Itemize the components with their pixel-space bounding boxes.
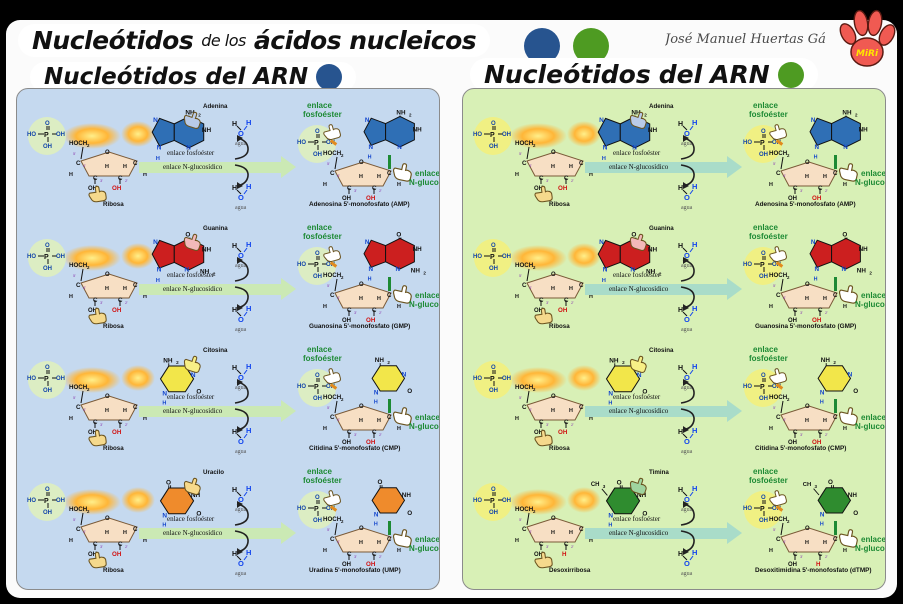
svg-text:HO: HO [743, 262, 752, 268]
svg-text:H: H [232, 487, 237, 494]
svg-text:H: H [377, 418, 381, 424]
svg-text:H: H [123, 286, 127, 292]
water-curved-arrow-bottom [233, 529, 257, 555]
arrow-head [281, 522, 296, 544]
svg-text:OH: OH [43, 266, 52, 272]
left-title-part3: ARN [253, 64, 308, 90]
svg-text:H: H [823, 540, 827, 546]
svg-text:H: H [246, 484, 251, 493]
reaction-row: HO P OH O OH O HOCH 2 5' C 4' C 1' C 3' … [17, 219, 439, 341]
phosphoester-pointer-hand [319, 483, 346, 510]
svg-text:OH: OH [489, 266, 498, 272]
svg-text:NH: NH [402, 492, 412, 499]
svg-text:agua: agua [235, 449, 247, 455]
svg-text:N: N [603, 145, 608, 152]
svg-text:HOCH: HOCH [515, 140, 534, 147]
svg-text:N: N [603, 267, 608, 274]
svg-text:H: H [805, 296, 809, 302]
svg-text:C: C [522, 282, 527, 289]
svg-text:2: 2 [87, 265, 90, 270]
svg-text:agua: agua [235, 571, 247, 577]
svg-text:4': 4' [83, 529, 86, 534]
svg-text:HO: HO [297, 140, 306, 146]
product-bond-phosphoester-l1: enlace [307, 101, 332, 110]
svg-text:HOCH: HOCH [69, 262, 88, 269]
svg-text:4': 4' [783, 173, 786, 178]
product-bond-glycosidic-l2: N-glucosídico [855, 178, 886, 187]
svg-text:2': 2' [571, 544, 574, 549]
svg-text:O: O [853, 510, 858, 517]
svg-text:H: H [69, 294, 73, 300]
product-name-label: Desoxitimidina 5'-monofosfato (dTMP) [755, 567, 872, 574]
svg-text:C: C [76, 282, 81, 289]
bond-label-phosphoester: enlace fosfoéster [167, 149, 214, 157]
svg-text:3: 3 [815, 484, 818, 489]
svg-text:H: H [551, 286, 555, 292]
svg-text:N: N [815, 266, 820, 273]
bond-label-nglycosidic: enlace N-glucosídico [609, 529, 668, 537]
arrow-head [727, 400, 742, 422]
svg-text:C: C [330, 170, 335, 177]
water-curved-arrow-bottom [679, 529, 703, 555]
svg-text:OH: OH [558, 307, 568, 314]
svg-text:C: C [579, 160, 584, 167]
main-title-part1: Nucleótidos [32, 26, 193, 55]
right-title-dot [778, 62, 804, 88]
svg-text:H: H [678, 243, 683, 250]
water-curved-arrow-top [233, 257, 257, 283]
pointing-hand-icon [765, 361, 792, 388]
svg-text:CH: CH [803, 482, 811, 488]
svg-text:O: O [491, 365, 496, 371]
svg-text:HO: HO [27, 498, 36, 504]
svg-text:agua: agua [235, 205, 247, 211]
product-bond-glycosidic-l2: N-glucosídico [409, 544, 440, 553]
svg-text:2: 2 [87, 509, 90, 514]
water-curved-arrow-top [233, 501, 257, 527]
water-curved-arrow-bottom [233, 285, 257, 311]
svg-text:NH: NH [821, 357, 831, 364]
left-title-part1: Nucleótidos [44, 64, 197, 90]
svg-text:HOCH: HOCH [769, 516, 788, 523]
svg-text:5': 5' [519, 151, 522, 156]
svg-text:3': 3' [354, 188, 357, 193]
sugar-name-label: Ribosa [103, 445, 124, 452]
svg-text:NH: NH [411, 268, 421, 275]
svg-text:OH: OH [558, 185, 568, 192]
product-name-label: Adenosina 5'-monofosfato (AMP) [309, 201, 410, 208]
svg-text:4': 4' [83, 163, 86, 168]
svg-text:HO: HO [27, 376, 36, 382]
svg-text:H: H [105, 164, 109, 170]
svg-text:H: H [769, 426, 773, 432]
svg-text:C: C [133, 526, 138, 533]
svg-text:H: H [823, 418, 827, 424]
svg-text:H: H [551, 408, 555, 414]
product-bond-glycosidic-l1: enlace [415, 535, 440, 544]
svg-text:H: H [515, 294, 519, 300]
svg-text:N: N [374, 390, 379, 397]
panel-rna: HO P OH O OH O HOCH 2 5' C 4' C 1' C 3' … [16, 88, 440, 590]
svg-text:HOCH: HOCH [515, 262, 534, 269]
svg-text:N: N [153, 117, 158, 124]
svg-text:H: H [843, 426, 847, 432]
svg-text:O: O [491, 487, 496, 493]
svg-text:OH: OH [43, 510, 52, 516]
svg-text:2': 2' [125, 422, 128, 427]
svg-text:OH: OH [112, 551, 122, 558]
svg-text:NH: NH [163, 357, 173, 364]
arrow-head [727, 522, 742, 544]
curved-arrow-icon [679, 285, 703, 311]
svg-text:2': 2' [379, 554, 382, 559]
svg-text:CH: CH [591, 482, 600, 488]
bond-label-nglycosidic: enlace N-glucosídico [163, 285, 222, 293]
svg-text:NH: NH [375, 357, 385, 364]
svg-text:H: H [805, 540, 809, 546]
svg-text:N: N [157, 267, 162, 274]
svg-text:H: H [232, 243, 237, 250]
svg-text:5': 5' [73, 517, 76, 522]
product-bond-glycosidic-l2: N-glucosídico [855, 544, 886, 553]
svg-text:O: O [45, 243, 50, 249]
svg-text:2': 2' [825, 310, 828, 315]
svg-text:OH: OH [112, 185, 122, 192]
svg-text:O: O [551, 272, 556, 278]
svg-text:N: N [397, 144, 402, 151]
product-name-label: Citidina 5'-monofosfato (CMP) [309, 445, 400, 452]
svg-text:O: O [684, 315, 690, 324]
svg-text:H: H [105, 408, 109, 414]
svg-text:H: H [377, 296, 381, 302]
sugar-name-label: Ribosa [549, 445, 570, 452]
svg-text:2': 2' [825, 188, 828, 193]
base-name-label: Uracilo [203, 469, 224, 476]
curved-arrow-icon [233, 407, 257, 433]
svg-text:2: 2 [833, 360, 836, 365]
water-curved-arrow-bottom [233, 407, 257, 433]
svg-text:C: C [579, 404, 584, 411]
product-bond-glycosidic-l1: enlace [861, 291, 886, 300]
svg-text:3': 3' [800, 554, 803, 559]
svg-text:N: N [842, 266, 847, 273]
bond-label-nglycosidic: enlace N-glucosídico [163, 163, 222, 171]
bond-label-phosphoester: enlace fosfoéster [167, 515, 214, 523]
svg-text:O: O [853, 388, 858, 395]
svg-text:H: H [323, 548, 327, 554]
svg-text:H: H [805, 418, 809, 424]
svg-text:HOCH: HOCH [769, 272, 788, 279]
reaction-row: HO P OH O OH O HOCH 2 5' C 4' C 1' C 3' … [463, 463, 885, 585]
svg-text:2: 2 [341, 153, 344, 158]
water-curved-arrow-top [679, 257, 703, 283]
svg-text:5': 5' [73, 395, 76, 400]
curved-arrow-icon [679, 135, 703, 161]
svg-text:H: H [374, 522, 378, 528]
svg-text:5': 5' [773, 283, 776, 288]
product-bond-phosphoester-l1: enlace [753, 345, 778, 354]
svg-text:4': 4' [529, 407, 532, 412]
svg-text:HOCH: HOCH [769, 394, 788, 401]
svg-text:5': 5' [73, 151, 76, 156]
svg-text:NH: NH [859, 127, 869, 134]
svg-text:N: N [369, 144, 374, 151]
panel-dna: HO P OH O OH O HOCH 2 5' C 4' C 1' C 3' … [462, 88, 886, 590]
svg-text:N: N [599, 117, 604, 124]
curved-arrow-icon [233, 135, 257, 161]
svg-text:H: H [246, 362, 251, 371]
svg-text:O: O [45, 365, 50, 371]
product-name-label: Citidina 5'-monofosfato (CMP) [755, 445, 846, 452]
svg-text:O: O [551, 516, 556, 522]
svg-text:3': 3' [354, 554, 357, 559]
svg-text:N: N [153, 239, 158, 246]
svg-text:H: H [69, 416, 73, 422]
svg-text:N: N [820, 390, 825, 397]
svg-text:2': 2' [379, 310, 382, 315]
svg-text:2: 2 [533, 265, 536, 270]
pointing-hand-icon [319, 239, 346, 266]
base-name-label: Citosina [203, 347, 227, 354]
svg-text:O: O [238, 559, 244, 568]
svg-text:O: O [684, 437, 690, 446]
svg-text:C: C [76, 404, 81, 411]
curved-arrow-icon [679, 407, 703, 433]
svg-text:O: O [238, 437, 244, 446]
product-name-label: Guanosina 5'-monofosfato (GMP) [755, 323, 856, 330]
svg-text:HOCH: HOCH [515, 506, 534, 513]
svg-text:2: 2 [87, 387, 90, 392]
svg-text:N: N [811, 117, 816, 124]
svg-text:O: O [45, 487, 50, 493]
svg-text:H: H [678, 121, 683, 128]
svg-text:agua: agua [681, 205, 693, 211]
product-name-label: Uradina 5'-monofosfato (UMP) [309, 567, 401, 574]
arrow-head [727, 278, 742, 300]
svg-text:H: H [823, 296, 827, 302]
svg-text:4': 4' [783, 417, 786, 422]
svg-text:O: O [761, 373, 766, 379]
bond-label-phosphoester: enlace fosfoéster [167, 271, 214, 279]
curved-arrow-icon [679, 501, 703, 527]
svg-text:HOCH: HOCH [323, 516, 342, 523]
svg-text:5': 5' [73, 273, 76, 278]
svg-text:H: H [820, 522, 824, 528]
product-name-label: Guanosina 5'-monofosfato (GMP) [309, 323, 410, 330]
phosphoester-pointer-hand [319, 361, 346, 388]
svg-text:5': 5' [327, 527, 330, 532]
svg-text:OH: OH [489, 510, 498, 516]
product-bond-glycosidic-l1: enlace [415, 291, 440, 300]
svg-text:NH: NH [857, 268, 867, 275]
svg-text:2: 2 [787, 153, 790, 158]
svg-text:4': 4' [783, 539, 786, 544]
svg-text:4': 4' [783, 295, 786, 300]
svg-text:N: N [157, 145, 162, 152]
base-name-label: Guanina [203, 225, 228, 232]
svg-text:3': 3' [800, 188, 803, 193]
diagram-canvas: Nucleótidos de los ácidos nucleicos Nucl… [0, 0, 903, 604]
svg-text:2: 2 [533, 509, 536, 514]
svg-text:O: O [491, 243, 496, 249]
svg-text:HO: HO [473, 498, 482, 504]
svg-text:4': 4' [529, 529, 532, 534]
svg-text:OH: OH [489, 388, 498, 394]
svg-text:N: N [815, 144, 820, 151]
phosphoester-pointer-hand [765, 361, 792, 388]
svg-text:HO: HO [297, 262, 306, 268]
svg-text:2': 2' [125, 178, 128, 183]
svg-text:H: H [123, 408, 127, 414]
svg-text:H: H [515, 172, 519, 178]
svg-text:H: H [368, 277, 372, 283]
svg-text:2': 2' [825, 554, 828, 559]
svg-text:HOCH: HOCH [515, 384, 534, 391]
svg-text:H: H [515, 538, 519, 544]
svg-text:H: H [232, 121, 237, 128]
svg-text:HO: HO [743, 384, 752, 390]
svg-text:3: 3 [603, 484, 606, 489]
svg-text:HO: HO [473, 254, 482, 260]
phosphoester-pointer-hand [765, 483, 792, 510]
svg-text:HO: HO [27, 132, 36, 138]
svg-text:H: H [678, 365, 683, 372]
bond-label-phosphoester: enlace fosfoéster [613, 271, 660, 279]
svg-text:4': 4' [83, 407, 86, 412]
svg-text:HOCH: HOCH [323, 272, 342, 279]
base-name-label: Timina [649, 469, 669, 476]
svg-text:H: H [551, 530, 555, 536]
svg-text:NH: NH [848, 492, 858, 499]
product-bond-glycosidic-l1: enlace [861, 169, 886, 178]
svg-text:2: 2 [855, 112, 858, 117]
svg-text:2': 2' [825, 432, 828, 437]
svg-text:HO: HO [743, 140, 752, 146]
svg-text:HO: HO [27, 254, 36, 260]
svg-text:HOCH: HOCH [69, 140, 88, 147]
svg-text:H: H [374, 400, 378, 406]
svg-text:O: O [238, 315, 244, 324]
reaction-row: HO P OH O OH O HOCH 2 5' C 4' C 1' C 3' … [17, 97, 439, 219]
svg-text:C: C [522, 160, 527, 167]
arrow-head [281, 156, 296, 178]
reaction-row: HO P OH O OH O HOCH 2 5' C 4' C 1' C 3' … [463, 341, 885, 463]
svg-text:C: C [579, 282, 584, 289]
svg-text:H: H [769, 304, 773, 310]
pointing-hand-icon [765, 239, 792, 266]
phosphoester-pointer-hand [319, 117, 346, 144]
svg-text:N: N [843, 144, 848, 151]
curved-arrow-icon [233, 529, 257, 555]
svg-text:N: N [820, 512, 825, 519]
svg-text:O: O [105, 272, 110, 278]
svg-text:5': 5' [519, 395, 522, 400]
svg-text:NH: NH [396, 110, 406, 117]
curved-arrow-icon [679, 163, 703, 189]
main-title: Nucleótidos de los ácidos nucleicos [18, 24, 490, 57]
curved-arrow-icon [233, 379, 257, 405]
water-curved-arrow-bottom [679, 407, 703, 433]
svg-text:O: O [315, 495, 320, 501]
phosphoester-pointer-hand [765, 117, 792, 144]
svg-text:NH: NH [859, 246, 869, 253]
svg-text:OH: OH [43, 144, 52, 150]
product-bond-glycosidic-l2: N-glucosídico [409, 300, 440, 309]
svg-text:H: H [692, 362, 697, 371]
reaction-row: HO P OH O OH O HOCH 2 5' C 4' C 1' C 3' … [17, 341, 439, 463]
svg-text:H: H [814, 277, 818, 283]
product-bond-glycosidic-l1: enlace [861, 413, 886, 422]
svg-text:HOCH: HOCH [323, 394, 342, 401]
sugar-name-label: Ribosa [103, 323, 124, 330]
svg-text:2': 2' [125, 300, 128, 305]
svg-text:agua: agua [235, 327, 247, 333]
bond-label-phosphoester: enlace fosfoéster [613, 149, 660, 157]
bond-label-nglycosidic: enlace N-glucosídico [163, 529, 222, 537]
svg-text:H: H [105, 530, 109, 536]
svg-text:3': 3' [354, 432, 357, 437]
svg-text:N: N [374, 512, 379, 519]
svg-text:2: 2 [409, 112, 412, 117]
svg-text:O: O [238, 193, 244, 202]
svg-text:HO: HO [743, 506, 752, 512]
product-name-label: Adenosina 5'-monofosfato (AMP) [755, 201, 856, 208]
bond-label-phosphoester: enlace fosfoéster [167, 393, 214, 401]
product-bond-glycosidic-l1: enlace [861, 535, 886, 544]
bond-label-nglycosidic: enlace N-glucosídico [609, 163, 668, 171]
svg-text:H: H [359, 540, 363, 546]
svg-text:H: H [123, 530, 127, 536]
svg-text:O: O [761, 129, 766, 135]
svg-text:N: N [599, 239, 604, 246]
svg-text:4': 4' [529, 163, 532, 168]
svg-text:2': 2' [379, 188, 382, 193]
svg-text:H: H [843, 548, 847, 554]
svg-text:HOCH: HOCH [323, 150, 342, 157]
svg-text:H: H [359, 296, 363, 302]
main-title-part2: de los [201, 31, 246, 50]
svg-text:2': 2' [571, 178, 574, 183]
svg-text:2: 2 [87, 143, 90, 148]
paw-logo-text: MiRi [856, 49, 879, 59]
curved-arrow-icon [679, 257, 703, 283]
pointing-hand-icon [319, 483, 346, 510]
svg-text:5': 5' [327, 405, 330, 410]
svg-text:2: 2 [622, 360, 625, 365]
svg-text:O: O [617, 479, 622, 486]
svg-text:H: H [359, 174, 363, 180]
product-bond-phosphoester-l1: enlace [307, 467, 332, 476]
svg-text:C: C [76, 160, 81, 167]
sugar-name-label: Ribosa [549, 201, 570, 208]
svg-text:OH: OH [558, 429, 568, 436]
svg-text:N: N [365, 239, 370, 246]
phosphoester-pointer-hand [319, 239, 346, 266]
pointing-hand-icon [319, 117, 346, 144]
svg-text:O: O [45, 121, 50, 127]
svg-text:5': 5' [327, 283, 330, 288]
svg-text:2: 2 [341, 519, 344, 524]
paw-logo-icon: MiRi [838, 6, 896, 68]
water-curved-arrow-top [233, 135, 257, 161]
svg-text:N: N [811, 239, 816, 246]
svg-text:H: H [569, 286, 573, 292]
svg-text:C: C [776, 414, 781, 421]
svg-text:H: H [569, 408, 573, 414]
svg-text:agua: agua [681, 449, 693, 455]
sugar-name-label: Ribosa [549, 323, 570, 330]
svg-text:H: H [692, 118, 697, 127]
